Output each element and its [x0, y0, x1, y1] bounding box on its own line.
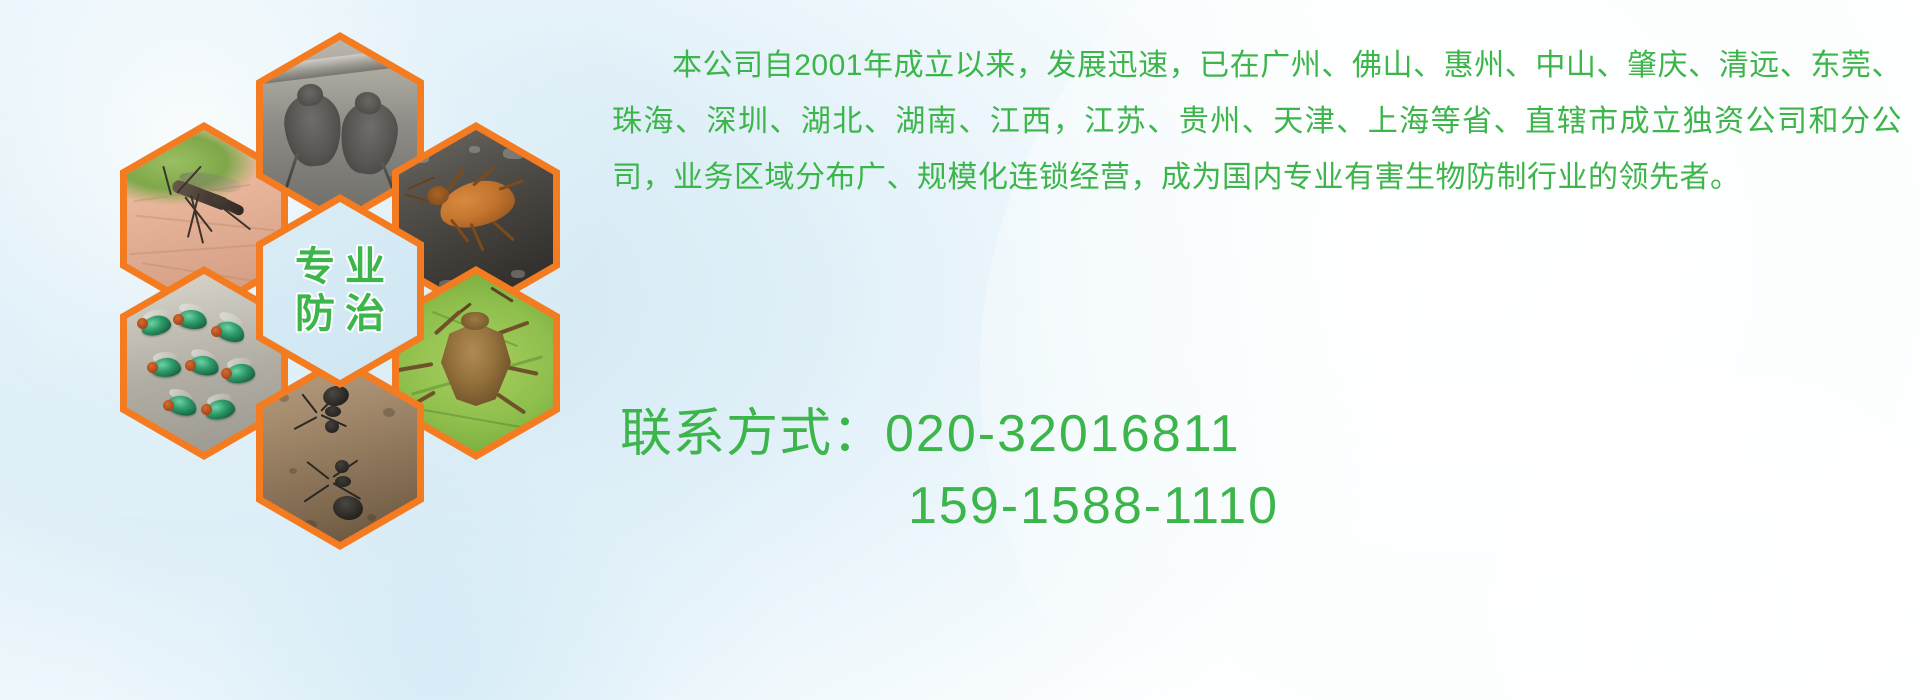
contact-secondary-row: 159-1588-1110 — [620, 470, 1680, 542]
logo-slogan-line-1: 专业 — [285, 246, 395, 289]
contact-primary-row: 联系方式：020-32016811 — [620, 398, 1680, 470]
intro-text-block: 本公司自2001年成立以来，发展迅速，已在广州、佛山、惠州、中山、肇庆、清远、东… — [612, 38, 1902, 206]
contact-phone-secondary[interactable]: 159-1588-1110 — [908, 477, 1279, 535]
hex-logo-center-frame: 专业 防治 — [263, 202, 417, 380]
promo-banner: 专业 防治 本公司自2001年成立以来，发展迅速，已在广州、佛山、惠州、中山、肇… — [0, 0, 1920, 700]
logo-slogan: 专业 防治 — [263, 202, 417, 380]
contact-info-block: 联系方式：020-32016811 159-1588-1110 — [620, 398, 1680, 542]
logo-slogan-line-2: 防治 — [285, 293, 395, 336]
contact-phone-primary[interactable]: 020-32016811 — [885, 405, 1241, 463]
hexagon-photo-cluster: 专业 防治 — [90, 10, 590, 570]
company-intro-paragraph: 本公司自2001年成立以来，发展迅速，已在广州、佛山、惠州、中山、肇庆、清远、东… — [612, 38, 1902, 206]
hex-photo-ants-frame — [263, 364, 417, 542]
contact-label: 联系方式： — [620, 405, 885, 463]
ants-on-soil-art — [263, 364, 417, 542]
